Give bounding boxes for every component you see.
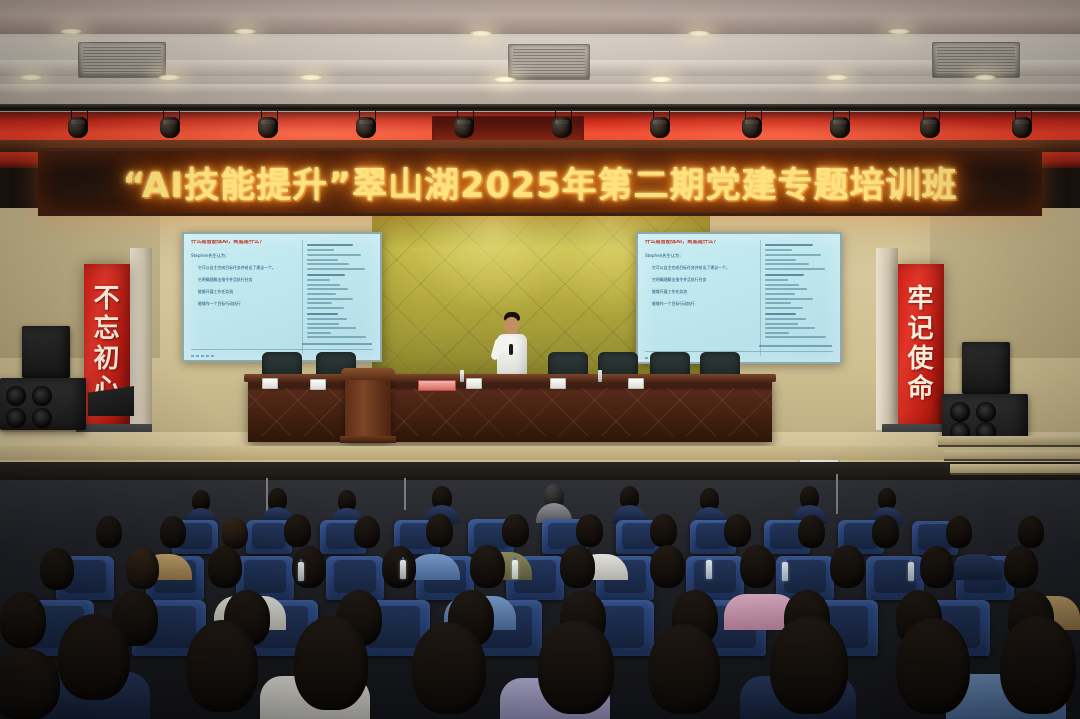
audience-head xyxy=(284,514,311,547)
recessed-downlight xyxy=(648,76,674,83)
slide-bullet: 它可以自主完成目标任务并给出了建议一个。 xyxy=(198,265,298,271)
audience-head xyxy=(648,624,720,714)
name-card xyxy=(418,380,456,391)
water-bottle xyxy=(400,560,406,579)
slide-main-column: 什么是智能体AI，到底是什么？ Stephen先生认为： 它可以自主完成目标任务… xyxy=(191,240,302,354)
par-can-stage-light xyxy=(920,108,940,138)
audience-head xyxy=(354,516,380,548)
recessed-downlight xyxy=(58,28,84,35)
slide-outline-panel xyxy=(760,240,833,356)
recessed-downlight xyxy=(232,28,258,35)
calligraphy-banner-right: 牢 记 使 命 xyxy=(898,264,944,426)
recessed-downlight xyxy=(972,74,998,81)
slide-bullet: 能够开展工作任务流 xyxy=(652,289,756,295)
wall-panel-right xyxy=(930,208,1080,358)
par-can-stage-light xyxy=(650,108,670,138)
calligraphy-char: 初 xyxy=(93,345,120,375)
stage-apron xyxy=(0,446,1080,460)
audience-head xyxy=(770,616,848,714)
recessed-downlight xyxy=(298,74,324,81)
audience-head xyxy=(412,622,486,714)
microphone-stand xyxy=(404,478,406,510)
speaker-top-right xyxy=(962,342,1010,394)
audience-head xyxy=(126,548,159,589)
audience-head xyxy=(538,620,614,714)
calligraphy-char: 使 xyxy=(907,345,934,375)
calligraphy-char: 不 xyxy=(93,285,120,315)
conference-table xyxy=(248,377,772,442)
presenter-head xyxy=(504,317,519,335)
par-can-stage-light xyxy=(356,108,376,138)
slide-lead: Stephen先生认为： xyxy=(191,253,298,259)
audience-head xyxy=(560,545,595,588)
audience-head xyxy=(0,592,46,648)
right-projection-screen: 什么是智能体AI，到底是什么？ Stephen先生认为： 它可以自主完成目标任务… xyxy=(636,232,842,364)
slide-content: 什么是智能体AI，到底是什么？ Stephen先生认为： 它可以自主完成目标任务… xyxy=(184,234,380,360)
tissue-box xyxy=(466,378,482,389)
subwoofer-left xyxy=(0,378,86,430)
slide-outline-panel xyxy=(302,240,373,354)
stage-column-right xyxy=(876,248,898,430)
audience-head xyxy=(160,516,186,548)
audience-head xyxy=(208,546,242,588)
tissue-box xyxy=(310,379,326,390)
water-bottle xyxy=(598,370,602,382)
slide-page-indicators xyxy=(191,355,214,357)
ceiling-band xyxy=(0,0,1080,34)
slide-bullet: 能够作一个目标行动执行 xyxy=(198,301,298,307)
recessed-downlight xyxy=(18,74,44,81)
water-bottle xyxy=(908,562,914,581)
slide-title: 什么是智能体AI，到底是什么？ xyxy=(645,240,756,246)
slide-main-column: 什么是智能体AI，到底是什么？ Stephen先生认为： 它可以自主完成目标任务… xyxy=(645,240,760,356)
audience-head xyxy=(1018,516,1044,548)
water-bottle xyxy=(782,562,788,581)
led-banner-text: “AI技能提升”翠山湖2025年第二期党建专题培训班 xyxy=(122,157,957,208)
slide-lead: Stephen先生认为： xyxy=(645,253,756,259)
audience-head xyxy=(724,514,751,547)
ceiling-air-vent xyxy=(78,42,166,78)
ceiling-soffit-2 xyxy=(0,84,1080,94)
tissue-box xyxy=(628,378,644,389)
water-bottle xyxy=(512,560,518,579)
calligraphy-char: 命 xyxy=(907,375,934,405)
calligraphy-char: 牢 xyxy=(907,285,934,315)
microphone-stand xyxy=(836,474,838,514)
audience-head xyxy=(40,548,74,590)
handheld-microphone xyxy=(509,344,513,355)
audience-head xyxy=(294,616,368,710)
speaker-top-left xyxy=(22,326,70,378)
audience-head xyxy=(1004,546,1038,588)
par-can-stage-light xyxy=(68,108,88,138)
audience-head xyxy=(946,516,972,548)
ceiling-air-vent xyxy=(508,44,590,80)
audience-head xyxy=(222,518,248,549)
slide-bullet: 它明确理解出指令并且执行任务 xyxy=(198,277,298,283)
audience-head xyxy=(830,545,865,588)
stage-front-edge xyxy=(0,462,1080,480)
slide-content: 什么是智能体AI，到底是什么？ Stephen先生认为： 它可以自主完成目标任务… xyxy=(638,234,840,362)
water-bottle xyxy=(706,560,712,579)
slide-bullet: 它明确理解出指令并且执行任务 xyxy=(652,277,756,283)
left-projection-screen: 什么是智能体AI，到底是什么？ Stephen先生认为： 它可以自主完成目标任务… xyxy=(182,232,382,362)
par-can-stage-light xyxy=(742,108,762,138)
audience-head xyxy=(96,516,122,548)
ceiling-air-vent xyxy=(932,42,1020,78)
recessed-downlight xyxy=(156,74,182,81)
par-can-stage-light xyxy=(454,108,474,138)
water-bottle xyxy=(460,370,464,382)
calligraphy-char: 记 xyxy=(907,315,934,345)
podium xyxy=(345,368,391,441)
audience-head xyxy=(872,515,899,548)
audience-head xyxy=(920,546,954,588)
slide-bullet: 能够开展工作任务流 xyxy=(198,289,298,295)
led-title-banner: “AI技能提升”翠山湖2025年第二期党建专题培训班 xyxy=(38,148,1042,216)
auditorium-scene: “AI技能提升”翠山湖2025年第二期党建专题培训班 什么是智能体AI，到底是什… xyxy=(0,0,1080,719)
audience-head xyxy=(576,514,603,547)
microphone-stand xyxy=(266,478,268,512)
audience-head xyxy=(650,514,677,547)
par-can-stage-light xyxy=(1012,108,1032,138)
par-can-stage-light xyxy=(552,108,572,138)
audience-head xyxy=(896,618,970,714)
recessed-downlight xyxy=(686,30,712,37)
audience-head xyxy=(502,514,529,547)
audience-head xyxy=(650,545,685,588)
recessed-downlight xyxy=(886,28,912,35)
audience-head xyxy=(186,620,258,712)
par-can-stage-light xyxy=(258,108,278,138)
audience-head xyxy=(382,546,416,588)
audience-head xyxy=(740,545,775,588)
par-can-stage-light xyxy=(830,108,850,138)
audience-head xyxy=(798,515,825,548)
calligraphy-char: 忘 xyxy=(93,315,120,345)
slide-bullet: 能够作一个目标行动执行 xyxy=(652,301,756,307)
recessed-downlight xyxy=(824,74,850,81)
water-bottle xyxy=(298,562,304,581)
audience-head xyxy=(1000,616,1076,714)
tissue-box xyxy=(262,378,278,389)
tissue-box xyxy=(550,378,566,389)
slide-title: 什么是智能体AI，到底是什么？ xyxy=(191,240,298,246)
recessed-downlight xyxy=(468,30,494,37)
audience-head xyxy=(426,514,453,547)
recessed-downlight xyxy=(492,76,518,83)
audience-head xyxy=(58,614,130,700)
audience-head xyxy=(470,545,505,588)
slide-bullet: 它可以自主完成目标任务并给出了建议一个。 xyxy=(652,265,756,271)
par-can-stage-light xyxy=(160,108,180,138)
